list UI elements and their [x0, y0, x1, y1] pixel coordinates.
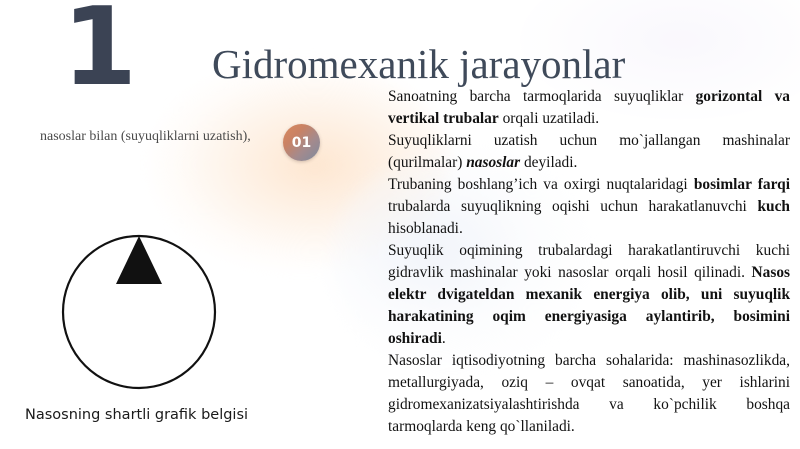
pump-symbol-diagram	[61, 234, 217, 390]
body-copy: Sanoatning barcha tarmoqlarida suyuqlikl…	[388, 86, 790, 438]
pump-symbol-icon	[61, 234, 217, 390]
diagram-caption: Nasosning shartli grafik belgisi	[25, 407, 248, 423]
body-text-run: .	[442, 330, 446, 347]
body-text-run: kuch	[757, 198, 790, 215]
body-paragraph: Suyuqliklarni uzatish uchun mo`jallangan…	[388, 130, 790, 174]
body-text-run: Suyuqliklarni uzatish uchun mo`jallangan…	[388, 132, 790, 171]
body-text-run: orqali uzatiladi.	[499, 110, 599, 127]
body-paragraph: Trubaning boshlang’ich va oxirgi nuqtala…	[388, 174, 790, 240]
step-badge-label: 01	[292, 136, 311, 150]
slide-canvas: 1 Gidromexanik jarayonlar nasoslar bilan…	[0, 0, 800, 449]
body-text-run: bosimlar farqi	[694, 176, 790, 193]
body-paragraph: Sanoatning barcha tarmoqlarida suyuqlikl…	[388, 86, 790, 130]
body-text-run: trubalarda suyuqlikning oqishi uchun har…	[388, 198, 757, 215]
body-text-run: hisoblanadi.	[388, 220, 463, 237]
body-paragraph: Suyuqlik oqimining trubalardagi harakatl…	[388, 240, 790, 350]
body-text-run: Nasoslar iqtisodiyotning barcha sohalari…	[388, 352, 790, 435]
body-paragraph: Nasoslar iqtisodiyotning barcha sohalari…	[388, 350, 790, 438]
body-text-run: nasoslar	[466, 154, 520, 171]
body-text-run: deyiladi.	[520, 154, 577, 171]
page-title: Gidromexanik jarayonlar	[212, 41, 625, 88]
sub-caption: nasoslar bilan (suyuqliklarni uzatish),	[40, 128, 290, 146]
body-text-run: Suyuqlik oqimining trubalardagi harakatl…	[388, 242, 790, 281]
step-badge: 01	[283, 124, 320, 161]
slide-number: 1	[62, 0, 135, 102]
body-text-run: Sanoatning barcha tarmoqlarida suyuqlikl…	[388, 88, 696, 105]
body-text-run: Trubaning boshlang’ich va oxirgi nuqtala…	[388, 176, 694, 193]
